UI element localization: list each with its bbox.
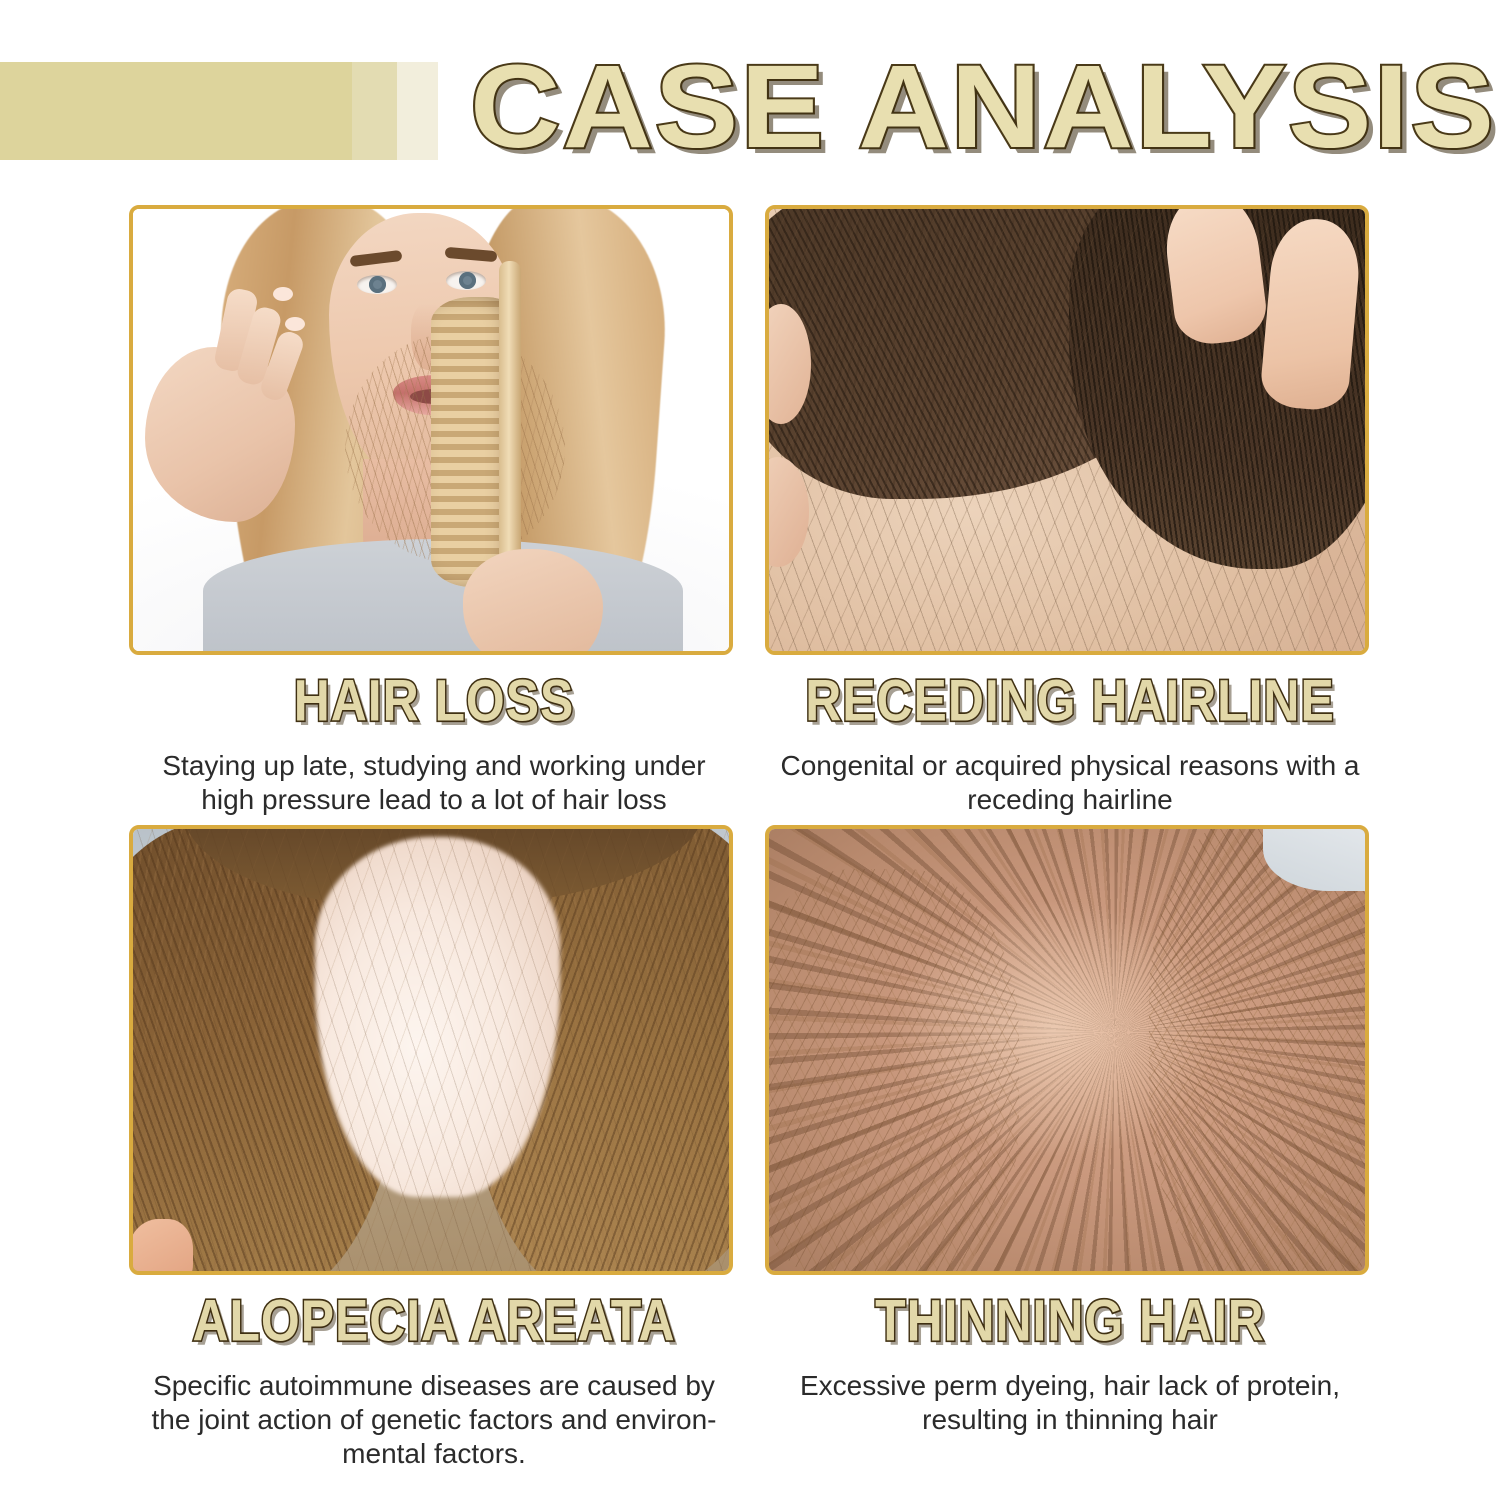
case-card-receding-hairline: RECEDING HAIRLINE Congenital or acquired…: [765, 205, 1375, 817]
page-header: CASE ANALYSIS: [0, 0, 1500, 200]
page-title-wrapper: CASE ANALYSIS: [470, 42, 1330, 172]
banner-segment-3: [397, 62, 438, 160]
photo-thinning-hair-crown: [769, 829, 1365, 1271]
photo-frame: [129, 205, 733, 655]
page-title: CASE ANALYSIS: [470, 42, 1382, 172]
photo-closeup-receding-hairline-scalp: [769, 209, 1365, 651]
case-card-description: Staying up late, studying and working un…: [129, 749, 739, 817]
case-card-alopecia-areata: ALOPECIA AREATA Specific autoimmune dise…: [129, 825, 739, 1471]
photo-bald-patch-on-scalp: [133, 829, 729, 1271]
header-banner-stripe: [0, 62, 438, 160]
case-card-heading: ALOPECIA AREATA: [141, 1289, 727, 1354]
case-card-description: Excessive perm dyeing, hair lack of prot…: [765, 1369, 1375, 1437]
photo-frame: [765, 825, 1369, 1275]
case-card-heading: THINNING HAIR: [777, 1289, 1363, 1354]
banner-segment-2: [352, 62, 397, 160]
case-card-description: Congenital or acquired physical reasons …: [765, 749, 1375, 817]
photo-woman-holding-hairbrush-with-fallen-hair: [133, 209, 729, 651]
case-card-heading: RECEDING HAIRLINE: [777, 669, 1363, 734]
case-card-hair-loss: HAIR LOSS Staying up late, studying and …: [129, 205, 739, 817]
case-card-thinning-hair: THINNING HAIR Excessive perm dyeing, hai…: [765, 825, 1375, 1437]
photo-frame: [129, 825, 733, 1275]
banner-segment-1: [0, 62, 352, 160]
photo-frame: [765, 205, 1369, 655]
case-card-description: Specific autoimmune diseases are caused …: [129, 1369, 739, 1471]
case-card-heading: HAIR LOSS: [141, 669, 727, 734]
case-grid: HAIR LOSS Staying up late, studying and …: [0, 200, 1500, 1500]
